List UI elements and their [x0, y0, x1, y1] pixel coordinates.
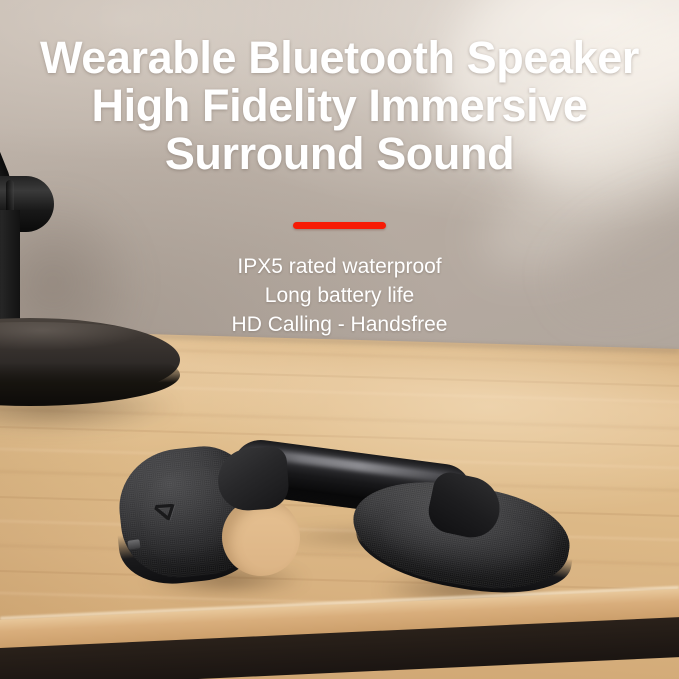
headline-line-2: High Fidelity Immersive [0, 82, 679, 130]
product-banner-scene: Δ Wearable Bluetooth Speaker High Fideli… [0, 0, 679, 679]
divider-container [0, 216, 679, 234]
red-divider-bar [293, 222, 386, 229]
feature-item-waterproof: IPX5 rated waterproof [0, 252, 679, 281]
page-title: Wearable Bluetooth Speaker High Fidelity… [0, 34, 679, 178]
headline-line-3: Surround Sound [0, 130, 679, 178]
feature-item-hd-calling: HD Calling - Handsfree [0, 310, 679, 339]
headline-line-1: Wearable Bluetooth Speaker [0, 34, 679, 82]
feature-item-battery: Long battery life [0, 281, 679, 310]
feature-list: IPX5 rated waterproof Long battery life … [0, 252, 679, 339]
